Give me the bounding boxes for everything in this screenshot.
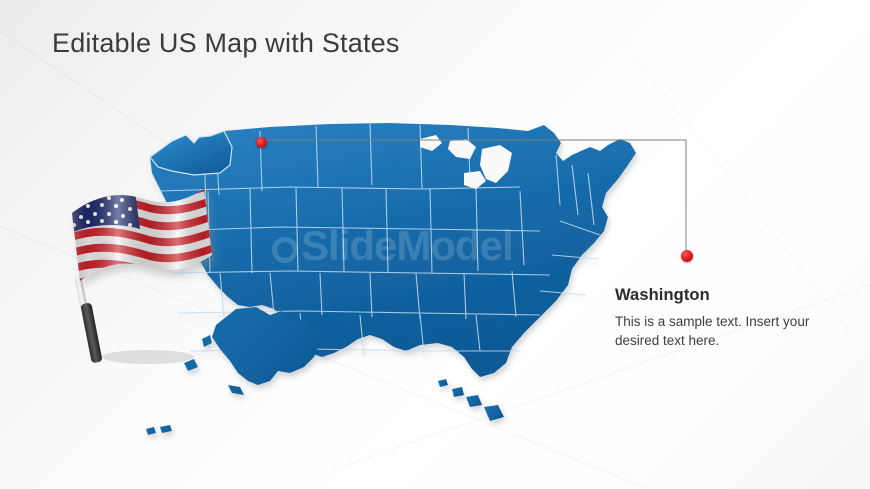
state-washington[interactable]: [150, 131, 232, 175]
map-marker-washington[interactable]: [256, 137, 267, 148]
callout-washington: Washington This is a sample text. Insert…: [615, 286, 835, 350]
slide-canvas: Editable US Map with States: [0, 0, 870, 489]
united-states-flag: [62, 185, 227, 370]
flag-fabric: [62, 175, 227, 300]
callout-marker-dot[interactable]: [681, 250, 693, 262]
flag-shadow: [102, 350, 194, 364]
region-hawaii[interactable]: [438, 379, 504, 421]
flag-pole: [74, 275, 102, 364]
callout-title: Washington: [615, 286, 835, 305]
page-title: Editable US Map with States: [52, 28, 400, 59]
callout-body: This is a sample text. Insert your desir…: [615, 313, 835, 350]
